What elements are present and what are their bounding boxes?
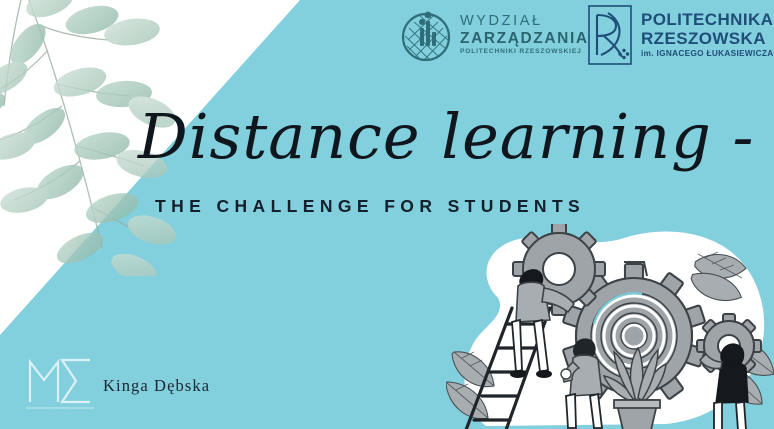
faculty-circular-emblem-icon [400, 6, 452, 64]
author-name: Kinga Dębska [103, 376, 210, 396]
slide-subtitle: THE CHALLENGE FOR STUDENTS [155, 196, 585, 217]
teamwork-gears-illustration [446, 224, 774, 429]
university-line-3: im. IGNACEGO ŁUKASIEWICZA [641, 50, 773, 58]
slide-title-text: Distance learning - [138, 100, 754, 173]
presentation-slide: WYDZIAŁ ZARZĄDZANIA POLITECHNIKI RZESZOW… [0, 0, 774, 429]
faculty-wordmark: WYDZIAŁ ZARZĄDZANIA POLITECHNIKI RZESZOW… [460, 14, 589, 56]
slide-title: Distance learning - [138, 100, 738, 186]
university-wordmark: POLITECHNIKA RZESZOWSKA im. IGNACEGO ŁUK… [641, 11, 773, 58]
faculty-line-2: ZARZĄDZANIA [460, 31, 589, 47]
monogram-caption-line-3: ...................... [26, 411, 92, 417]
faculty-logo: WYDZIAŁ ZARZĄDZANIA POLITECHNIKI RZESZOW… [400, 6, 589, 64]
university-logo: POLITECHNIKA RZESZOWSKA im. IGNACEGO ŁUK… [588, 5, 773, 65]
faculty-line-1: WYDZIAŁ [460, 14, 589, 29]
university-line-1: POLITECHNIKA [641, 11, 773, 28]
monogram-watermark-caption: ........................ ...............… [26, 398, 92, 417]
prz-monogram-icon [588, 5, 632, 65]
university-line-2: RZESZOWSKA [641, 30, 773, 47]
faculty-line-3: POLITECHNIKI RZESZOWSKIEJ [460, 49, 589, 56]
